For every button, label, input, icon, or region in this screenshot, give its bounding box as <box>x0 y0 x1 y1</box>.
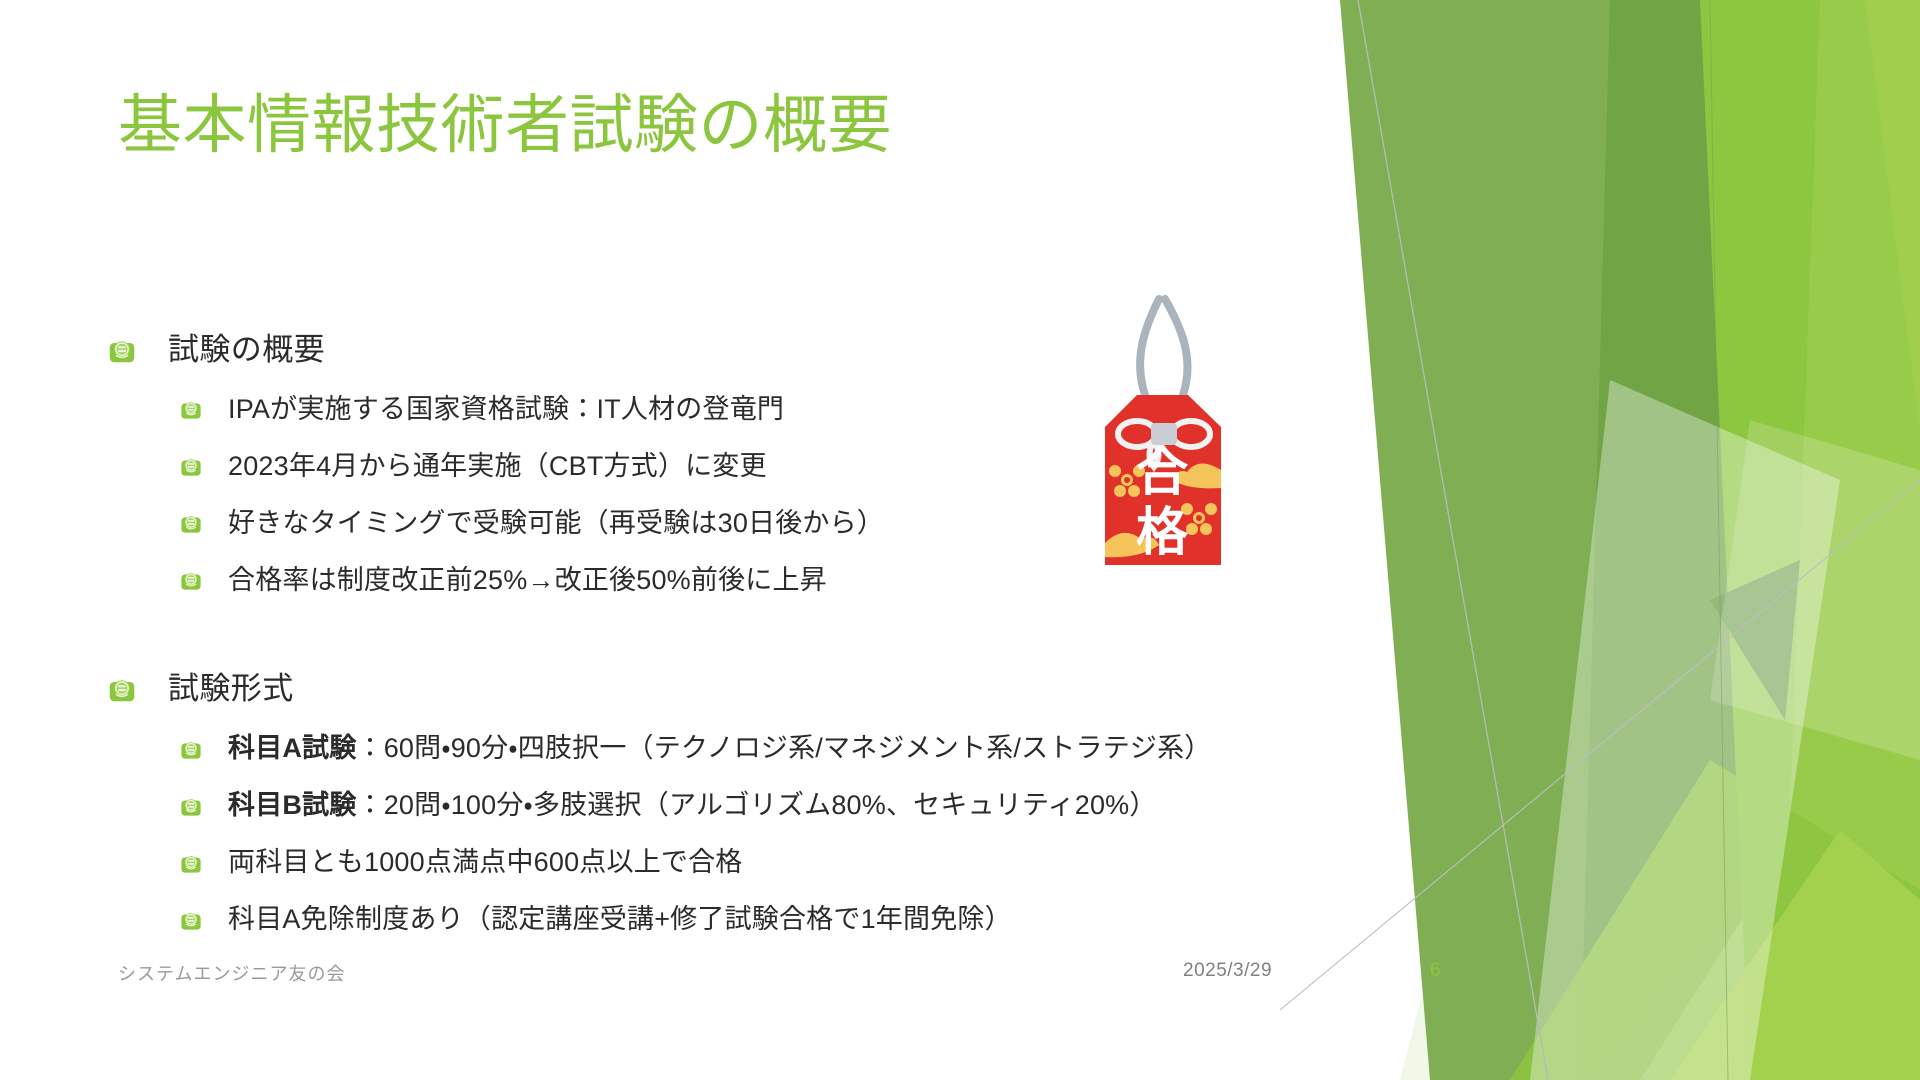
facet-shape-translucent-a <box>1530 380 1840 1080</box>
level2-bullet-label: 合格率は制度改正前25%→改正後50%前後に上昇 <box>228 562 827 598</box>
green-badge-bullet-icon <box>180 569 202 591</box>
level2-bullet-label: IPAが実施する国家資格試験：IT人材の登竜門 <box>228 391 784 427</box>
facet-shape-darkgreen-overlay <box>1580 0 1920 1080</box>
green-badge-bullet-icon <box>180 795 202 817</box>
footer-date: 2025/3/29 <box>1183 960 1272 982</box>
footer-page-number: 6 <box>1430 960 1441 982</box>
facet-shape-pale-left-2 <box>1450 400 1750 1080</box>
level1-bullet-label: 試験の概要 <box>168 330 325 370</box>
level2-bullet-label: 2023年4月から通年実施（CBT方式）に変更 <box>228 448 767 484</box>
level2-bullet-strong: 科目A試験 <box>228 733 357 763</box>
green-badge-bullet-icon <box>180 852 202 874</box>
green-badge-bullet-icon <box>180 455 202 477</box>
omamori-charm-illustration: 合 格 <box>1075 275 1250 635</box>
green-badge-bullet-icon <box>180 909 202 931</box>
facet-theme-decoration <box>1280 0 1920 1080</box>
green-badge-bullet-icon <box>108 675 136 703</box>
facet-shape-bottom-light <box>1510 760 1920 1080</box>
level2-bullet-label: 両科目とも1000点満点中600点以上で合格 <box>228 844 743 880</box>
facet-hairline-3 <box>1710 0 1728 1080</box>
green-badge-bullet-icon <box>180 738 202 760</box>
omamori-label-2: 格 <box>1136 503 1189 563</box>
level2-bullet-label: 好きなタイミングで受験可能（再受験は30日後から） <box>228 505 884 541</box>
facet-shape-brightgreen-right <box>1700 0 1920 1080</box>
facet-hairline-2 <box>1280 480 1920 1010</box>
level2-bullet-label: 科目A試験：60問・90分・四肢択一（テクノロジ系/マネジメント系/ストラテジ系… <box>228 730 1212 766</box>
slide-canvas: 基本情報技術者試験の概要 試験の概要 <box>0 0 1920 1080</box>
facet-hairline-1 <box>1358 0 1548 1080</box>
omamori-cord-left <box>1140 299 1159 395</box>
level2-bullet-item: 科目B試験：20問・100分・多肢選択（アルゴリズム80%、セキュリティ20%） <box>180 781 1288 831</box>
facet-shape-translucent-b <box>1710 420 1920 760</box>
page-title: 基本情報技術者試験の概要 <box>118 88 1268 164</box>
level2-bullet-strong: 科目B試験 <box>228 790 357 820</box>
facet-shape-bottom-lime <box>1670 830 1920 1080</box>
level2-bullet-item: 科目A試験：60問・90分・四肢択一（テクノロジ系/マネジメント系/ストラテジ系… <box>180 724 1288 774</box>
omamori-knot-center <box>1151 423 1177 445</box>
green-badge-bullet-icon <box>180 398 202 420</box>
green-badge-bullet-icon <box>108 336 136 364</box>
level2-bullet-list: 科目A試験：60問・90分・四肢択一（テクノロジ系/マネジメント系/ストラテジ系… <box>108 724 1288 945</box>
facet-shape-brightgreen-right-2 <box>1780 0 1920 1080</box>
omamori-label: 合 <box>1136 443 1189 503</box>
content-group: 試験形式 科目A試験：60問・90分・四肢択一（テクノロジ <box>108 669 1288 944</box>
omamori-cord-right <box>1165 299 1188 395</box>
level2-bullet-item: 両科目とも1000点満点中600点以上で合格 <box>180 838 1288 888</box>
level1-bullet-label: 試験形式 <box>168 669 294 709</box>
level2-bullet-label: 科目A免除制度あり（認定講座受講+修了試験合格で1年間免除） <box>228 901 1012 937</box>
level2-bullet-label: 科目B試験：20問・100分・多肢選択（アルゴリズム80%、セキュリティ20%） <box>228 787 1157 823</box>
facet-shape-dark-accent <box>1710 560 1800 720</box>
level1-bullet-item: 試験形式 <box>108 669 1288 709</box>
facet-shape-darkgreen-main <box>1340 0 1920 1080</box>
facet-shape-lime-top-right <box>1865 0 1920 430</box>
level2-bullet-rest: ：60問・90分・四肢択一（テクノロジ系/マネジメント系/ストラテジ系） <box>357 733 1212 763</box>
footer-organization: システムエンジニア友の会 <box>118 960 345 986</box>
green-badge-bullet-icon <box>180 512 202 534</box>
level2-bullet-rest: ：20問・100分・多肢選択（アルゴリズム80%、セキュリティ20%） <box>357 790 1157 820</box>
level2-bullet-item: 科目A免除制度あり（認定講座受講+修了試験合格で1年間免除） <box>180 895 1288 945</box>
